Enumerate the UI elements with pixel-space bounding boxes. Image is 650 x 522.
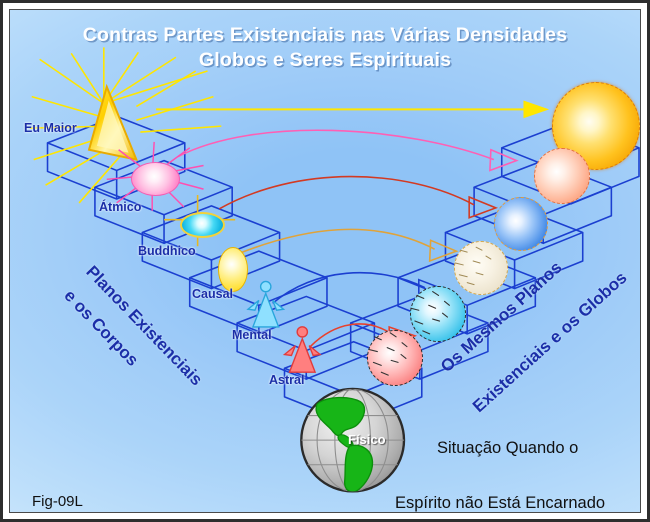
- caption-line-1: Situação Quando o: [437, 439, 578, 458]
- figure-inner-border: Contras Partes Existenciais nas Várias D…: [9, 9, 641, 513]
- globe-texture: [10, 10, 640, 512]
- caption-line-2: Espírito não Está Encarnado: [395, 494, 605, 512]
- label-buddhico: Buddhico: [138, 244, 196, 258]
- label-atmico: Átmico: [99, 200, 141, 214]
- label-astral: Astral: [269, 373, 304, 387]
- label-mental: Mental: [232, 328, 272, 342]
- figure-number: Fig-09L: [32, 493, 83, 510]
- label-eu-maior: Eu Maior: [24, 121, 77, 135]
- diagram-canvas: Contras Partes Existenciais nas Várias D…: [10, 10, 640, 512]
- label-causal: Causal: [192, 287, 233, 301]
- figure-frame: Contras Partes Existenciais nas Várias D…: [0, 0, 650, 522]
